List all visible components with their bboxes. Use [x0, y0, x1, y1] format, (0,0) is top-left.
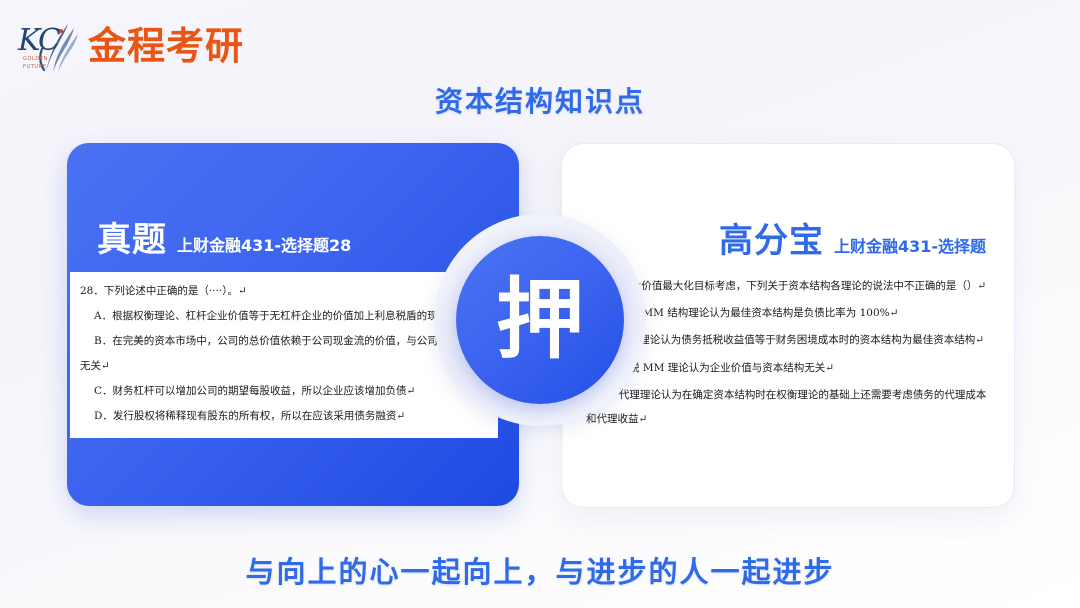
page-title: 资本结构知识点 [0, 80, 1080, 120]
question-line: B．在完美的资本市场中，公司的总价值依赖于公司现金流的价值，与公司资本结构 [80, 334, 488, 349]
question-line: D．代理理论认为在确定资本结构时在权衡理论的基础上还需要考虑债务的代理成本 [586, 388, 998, 403]
high-score-heading: 高分宝 [719, 224, 824, 258]
question-line: A．有税 MM 结构理论认为最佳资本结构是负债比率为 100%↵ [586, 306, 998, 321]
high-score-question-card: 37．从企业价值最大化目标考虑，下列关于资本结构各理论的说法中不正确的是（）↵ … [586, 279, 998, 427]
svg-text:C: C [38, 23, 61, 58]
svg-text:FUTURE: FUTURE [23, 64, 46, 70]
center-badge: 押 [434, 214, 646, 426]
question-line: 37．从企业价值最大化目标考虑，下列关于资本结构各理论的说法中不正确的是（）↵ [586, 279, 998, 294]
question-line: 28．下列论述中正确的是（····）。↵ [80, 284, 488, 299]
brand-logo: K C GOLDEN FUTURE 金程考研 [14, 14, 264, 78]
footer-slogan: 与向上的心一起向上，与进步的人一起进步 [0, 549, 1080, 591]
question-line: 和代理收益↵ [586, 412, 998, 427]
svg-text:GOLDEN: GOLDEN [23, 56, 48, 62]
question-line: A．根据权衡理论、杠杆企业价值等于无杠杆企业的价值加上利息税盾的现值↵ [80, 309, 488, 324]
question-line: D．发行股权将稀释现有股东的所有权，所以在应该采用债务融资↵ [80, 409, 488, 424]
high-score-subheading: 上财金融431-选择题 [834, 239, 986, 258]
badge-core: 押 [456, 236, 624, 404]
question-line: 无关↵ [80, 359, 488, 374]
question-line: C．财务杠杆可以增加公司的期望每股收益，所以企业应该增加负债↵ [80, 384, 488, 399]
kc-golden-future-logo-icon: K C GOLDEN FUTURE [14, 16, 86, 76]
badge-character: 押 [496, 276, 584, 364]
brand-wordmark: 金程考研 [88, 27, 244, 65]
question-line: C．无税 MM 理论认为企业价值与资本结构无关↵ [586, 361, 998, 376]
real-exam-subheading: 上财金融431-选择题28 [177, 238, 351, 257]
real-exam-heading: 真题 [97, 223, 167, 257]
high-score-heading-group: 高分宝 上财金融431-选择题 [719, 224, 986, 258]
question-line: B．权衡理论认为债务抵税收益值等于财务困境成本时的资本结构为最佳资本结构↵ [586, 333, 998, 348]
real-exam-heading-group: 真题 上财金融431-选择题28 [97, 223, 351, 257]
